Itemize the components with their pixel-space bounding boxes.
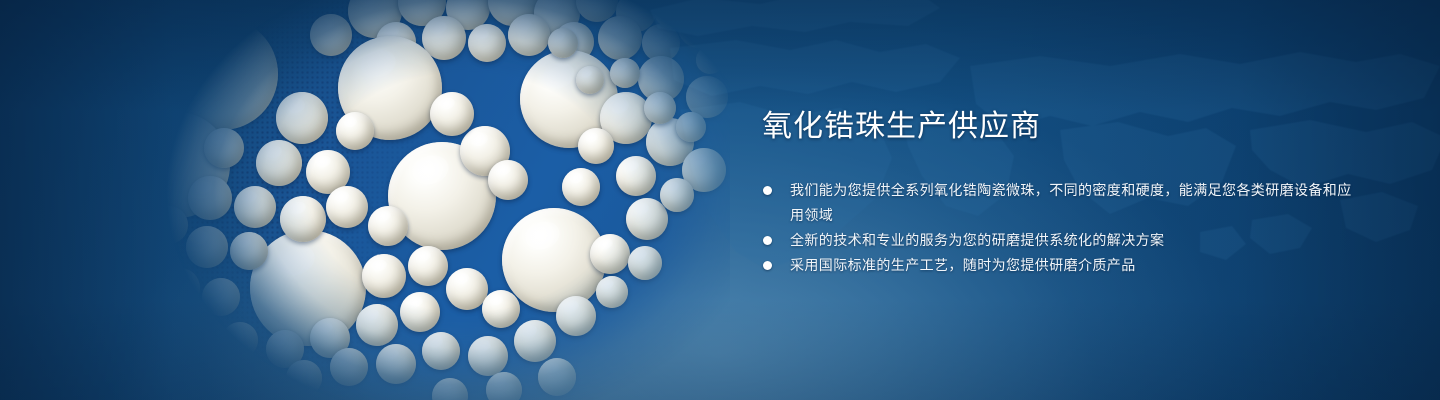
list-item: 我们能为您提供全系列氧化锆陶瓷微珠，不同的密度和硬度，能满足您各类研磨设备和应用…	[762, 178, 1362, 228]
list-item: 全新的技术和专业的服务为您的研磨提供系统化的解决方案	[762, 228, 1362, 253]
page-title: 氧化锆珠生产供应商	[762, 108, 1362, 145]
list-item: 采用国际标准的生产工艺，随时为您提供研磨介质产品	[762, 253, 1362, 278]
hero-banner: 氧化锆珠生产供应商 我们能为您提供全系列氧化锆陶瓷微珠，不同的密度和硬度，能满足…	[0, 0, 1440, 400]
bead-cluster	[130, 0, 730, 400]
bullet-dot-icon	[763, 236, 772, 245]
bullet-dot-icon	[763, 186, 772, 195]
bullet-dot-icon	[763, 261, 772, 270]
banner-copy: 氧化锆珠生产供应商 我们能为您提供全系列氧化锆陶瓷微珠，不同的密度和硬度，能满足…	[762, 108, 1362, 278]
list-item-text: 我们能为您提供全系列氧化锆陶瓷微珠，不同的密度和硬度，能满足您各类研磨设备和应用…	[790, 182, 1352, 223]
feature-list: 我们能为您提供全系列氧化锆陶瓷微珠，不同的密度和硬度，能满足您各类研磨设备和应用…	[762, 178, 1362, 278]
zirconia-beads-photo	[130, 0, 730, 400]
list-item-text: 全新的技术和专业的服务为您的研磨提供系统化的解决方案	[790, 232, 1164, 248]
list-item-text: 采用国际标准的生产工艺，随时为您提供研磨介质产品	[790, 257, 1136, 273]
